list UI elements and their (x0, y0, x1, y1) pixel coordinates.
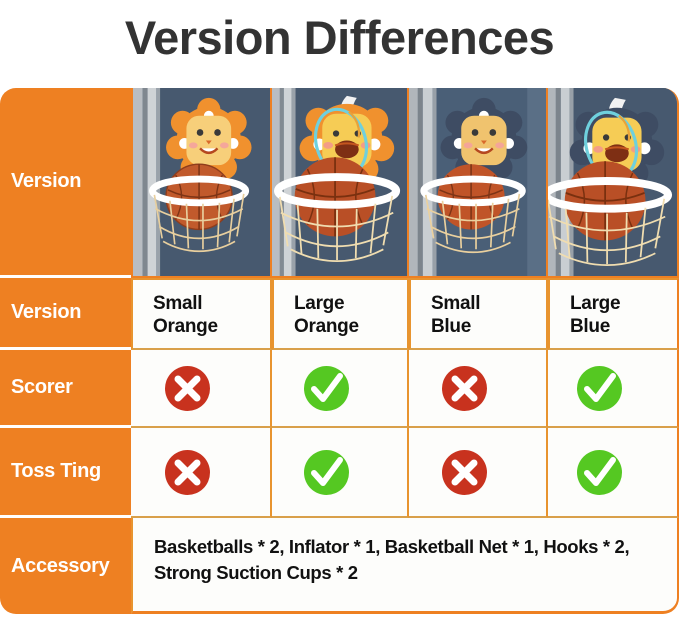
large-orange-hoop-illustration (272, 88, 407, 276)
version-name-cell-large-blue: Large Blue (548, 278, 679, 350)
row-label-version-image: Version (0, 88, 131, 278)
small-blue-hoop-illustration (409, 88, 546, 276)
version-name-text: Small Blue (411, 280, 546, 338)
version-name-line1: Large (570, 292, 677, 315)
cross-icon (442, 450, 487, 495)
scorer-cell-small-blue (409, 350, 548, 428)
toss-ting-cell-small-blue (409, 428, 548, 518)
version-comparison-table: Version (0, 88, 679, 634)
product-image-large-orange (272, 88, 409, 278)
cross-icon (442, 366, 487, 411)
version-name-line1: Large (294, 292, 407, 315)
version-name-line1: Small (153, 292, 270, 315)
check-icon (577, 450, 622, 495)
scorer-cell-small-orange (131, 350, 272, 428)
version-name-cell-large-orange: Large Orange (272, 278, 409, 350)
check-icon (304, 366, 349, 411)
version-name-cell-small-orange: Small Orange (131, 278, 272, 350)
small-orange-hoop-illustration (133, 88, 270, 276)
product-image-large-blue (548, 88, 679, 278)
row-label-accessory: Accessory (0, 518, 131, 614)
toss-ting-cell-large-blue (548, 428, 679, 518)
row-label-version-name: Version (0, 278, 131, 350)
version-name-text: Small Orange (133, 280, 270, 338)
version-name-line2: Blue (570, 315, 677, 338)
large-blue-hoop-illustration (548, 88, 677, 276)
scorer-cell-large-blue (548, 350, 679, 428)
accessory-text: Basketballs * 2, Inflator * 1, Basketbal… (133, 518, 677, 587)
product-image-small-orange (131, 88, 272, 278)
toss-ting-cell-large-orange (272, 428, 409, 518)
row-label-toss-ting: Toss Ting (0, 428, 131, 518)
version-name-text: Large Orange (274, 280, 407, 338)
scorer-cell-large-orange (272, 350, 409, 428)
infographic-page: Version Differences Version (0, 0, 679, 635)
toss-ting-cell-small-orange (131, 428, 272, 518)
version-name-text: Large Blue (550, 280, 677, 338)
version-name-line2: Orange (153, 315, 270, 338)
version-name-cell-small-blue: Small Blue (409, 278, 548, 350)
product-image-small-blue (409, 88, 548, 278)
check-icon (577, 366, 622, 411)
cross-icon (165, 366, 210, 411)
page-title: Version Differences (0, 2, 679, 74)
version-name-line2: Orange (294, 315, 407, 338)
row-label-scorer: Scorer (0, 350, 131, 428)
check-icon (304, 450, 349, 495)
version-name-line1: Small (431, 292, 546, 315)
version-name-line2: Blue (431, 315, 546, 338)
cross-icon (165, 450, 210, 495)
accessory-cell: Basketballs * 2, Inflator * 1, Basketbal… (131, 518, 679, 614)
